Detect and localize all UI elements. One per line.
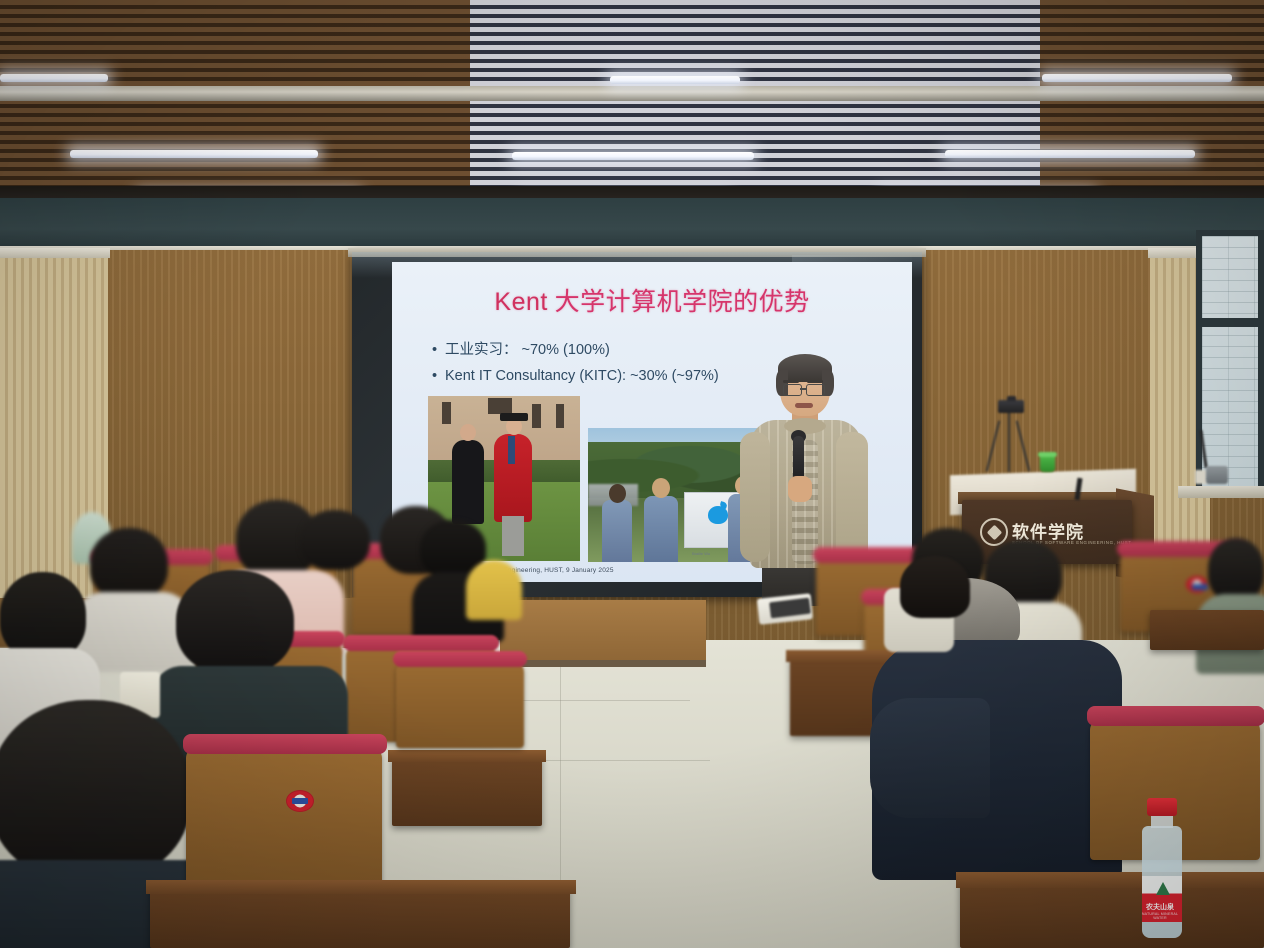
slide-bullet-text: Kent IT Consultancy (KITC): ~30% (~97%) <box>445 368 719 384</box>
audience-head <box>176 570 294 674</box>
student-desk-top <box>956 872 1264 888</box>
window-exterior-brick <box>1202 236 1258 486</box>
auditorium-seat <box>186 748 382 888</box>
eyeglasses-icon <box>783 384 802 396</box>
photo-building-window <box>488 398 512 414</box>
photo-graduation-hat <box>500 413 528 421</box>
presenter-arm-right <box>836 432 868 564</box>
bottle-cap <box>1147 798 1177 816</box>
slide-title-cjk: 大学计算机学院的优势 <box>548 289 810 316</box>
bottle-sub-text: NATURAL MINERAL WATER <box>1140 912 1180 920</box>
seat-sticker <box>1186 576 1208 593</box>
wall-panel-cap-left <box>0 248 110 258</box>
upper-wall-band <box>0 198 1264 250</box>
student-desk <box>150 886 570 948</box>
slide-bullet-text: 工业实习： ~70% (100%) <box>445 342 610 358</box>
window-mullion <box>1196 318 1264 327</box>
seat-cushion <box>183 734 387 754</box>
ceiling-light-tube <box>610 76 740 84</box>
ceiling-light-tube <box>512 152 754 160</box>
bottle-neck <box>1151 814 1173 828</box>
audience-arm <box>870 698 990 818</box>
school-emblem-icon <box>980 518 1008 546</box>
presenter-hand <box>788 476 812 502</box>
presenter-eyebrow <box>783 380 799 383</box>
window-object <box>1206 466 1228 484</box>
eyeglasses-icon <box>806 384 825 396</box>
seat-cushion <box>343 635 499 651</box>
photo-person-tie <box>508 436 515 464</box>
photo-student <box>602 500 632 562</box>
bullet-marker: • <box>432 342 445 358</box>
photo-student-head <box>609 484 626 503</box>
ceiling-light-tube <box>1042 74 1232 82</box>
bullet-marker: • <box>432 368 445 384</box>
photo-building-window <box>532 404 541 428</box>
student-desk <box>392 756 542 826</box>
audience-head <box>90 528 168 600</box>
audience-head <box>300 510 370 570</box>
bottle-brand-text: 农夫山泉 <box>1140 902 1180 912</box>
audience-torso <box>466 560 522 620</box>
slide-title: Kent 大学计算机学院的优势 <box>392 282 912 318</box>
student-desk-top <box>146 880 576 894</box>
slide-title-latin: Kent <box>494 288 547 316</box>
audience-head <box>0 572 86 660</box>
seat-sticker <box>286 790 314 812</box>
window-frame <box>1196 230 1264 492</box>
presenter-mouth <box>795 403 813 408</box>
ceiling-light-tube <box>70 150 318 158</box>
ceiling-beam <box>0 86 1264 101</box>
seat-cushion <box>1087 706 1264 726</box>
presenter-eyebrow <box>807 380 823 383</box>
ceiling-light-tube <box>945 150 1195 158</box>
student-desk <box>960 880 1264 948</box>
photo-student <box>644 496 678 562</box>
green-cup <box>1040 455 1055 472</box>
auditorium-seat <box>396 662 524 748</box>
presenter-collar <box>784 418 826 434</box>
photo-watermark: Braille Wu <box>692 551 710 556</box>
photo-building-window <box>442 402 451 424</box>
photo-person-suit <box>452 440 484 524</box>
presenter-arm-left <box>740 432 770 562</box>
front-platform-base <box>500 660 706 667</box>
bottle-logo-icon <box>1156 882 1170 895</box>
window-sill <box>1178 486 1264 498</box>
front-platform <box>500 600 706 662</box>
photo-building-window <box>556 404 564 428</box>
photo-student-head <box>652 478 670 498</box>
video-camera-icon <box>998 400 1024 413</box>
audience-head <box>900 556 970 618</box>
seat-cushion <box>393 651 527 667</box>
ceiling-light-tube <box>0 74 108 82</box>
tripod-column <box>1008 410 1010 472</box>
lecture-hall-scene: Kent 大学计算机学院的优势 •工业实习： ~70% (100%) •Kent… <box>0 0 1264 948</box>
photo-person-suit-head <box>460 424 476 441</box>
apple-logo-icon <box>708 502 728 524</box>
photo-person-robe-legs <box>502 516 524 556</box>
student-desk-top <box>388 750 546 762</box>
water-bottle: 农夫山泉 NATURAL MINERAL WATER <box>1140 798 1184 938</box>
student-desk <box>1150 610 1264 650</box>
audience-head <box>0 700 190 880</box>
audience-head <box>1208 538 1264 602</box>
eyeglasses-bridge <box>800 388 806 390</box>
